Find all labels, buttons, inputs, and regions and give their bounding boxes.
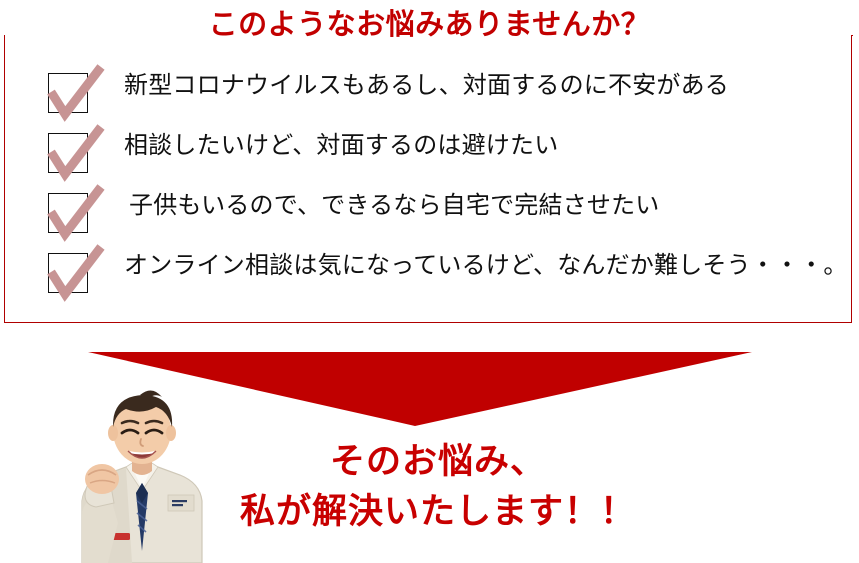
checkbox-checked-icon — [45, 125, 107, 187]
list-item: オンライン相談は気になっているけど、なんだか難しそう・・・。 — [4, 239, 852, 299]
checkbox-checked-icon — [45, 65, 107, 127]
check-mark-icon — [45, 125, 107, 187]
promo-poster: このようなお悩みありませんか？ 新型コロナウイルスもあるし、対面するのに不安があ… — [0, 0, 859, 563]
list-item: 新型コロナウイルスもあるし、対面するのに不安がある — [4, 59, 852, 119]
list-item: 相談したいけど、対面するのは避けたい — [4, 119, 852, 179]
worry-checklist: 新型コロナウイルスもあるし、対面するのに不安がある 相談したいけど、対面するのは… — [4, 35, 852, 323]
checkbox-checked-icon — [45, 245, 107, 307]
presenter-photo — [52, 383, 232, 563]
solution-headline: そのお悩み、 私が解決いたします！！ — [228, 437, 648, 537]
worry-item-label: オンライン相談は気になっているけど、なんだか難しそう・・・。 — [124, 248, 848, 284]
solution-line-2: 私が解決いたします！！ — [228, 487, 648, 537]
check-mark-icon — [45, 185, 107, 247]
checkbox-checked-icon — [45, 185, 107, 247]
list-item: 子供もいるので、できるなら自宅で完結させたい — [4, 179, 852, 239]
worry-item-label: 子供もいるので、できるなら自宅で完結させたい — [129, 188, 659, 224]
check-mark-icon — [45, 65, 107, 127]
worry-item-label: 新型コロナウイルスもあるし、対面するのに不安がある — [124, 68, 729, 104]
solution-line-1: そのお悩み、 — [228, 437, 648, 487]
check-mark-icon — [45, 245, 107, 307]
worry-item-label: 相談したいけど、対面するのは避けたい — [124, 128, 558, 164]
